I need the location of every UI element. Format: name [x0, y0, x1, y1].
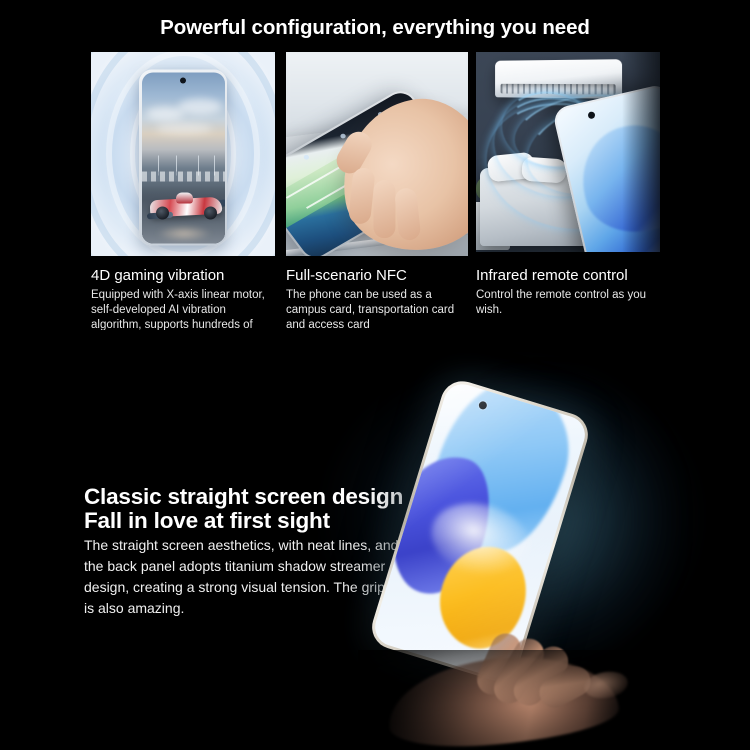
promo-page: Powerful configuration, everything you n… [0, 0, 750, 750]
car-tyre [204, 206, 217, 219]
feature-card-infrared: Infrared remote control Control the remo… [476, 52, 660, 318]
camera-punch-hole-icon [180, 77, 186, 83]
track-barrier [142, 171, 225, 181]
page-title: Powerful configuration, everything you n… [0, 16, 750, 40]
hand-finger [373, 180, 395, 238]
camera-punch-hole-icon [587, 111, 595, 119]
feature-desc-infrared: Control the remote control as you wish. [476, 288, 660, 318]
feature-image-vibration [91, 52, 275, 256]
hero-description: The straight screen aesthetics, with nea… [84, 535, 414, 619]
feature-title-infrared: Infrared remote control [476, 267, 660, 284]
feature-title-vibration: 4D gaming vibration [91, 267, 275, 284]
feature-card-nfc: ⚡ [286, 52, 468, 333]
app-dot-icon [303, 154, 310, 161]
hand-finger [394, 187, 421, 241]
hero-section: Classic straight screen design Fall in l… [0, 330, 750, 750]
hand-finger [348, 167, 376, 225]
feature-title-nfc: Full-scenario NFC [286, 267, 468, 284]
feature-image-infrared [476, 52, 660, 252]
cloud-shape [156, 122, 212, 134]
feature-card-vibration: 4D gaming vibration Equipped with X-axis… [91, 52, 275, 348]
race-car [146, 181, 221, 221]
track-reflection [156, 225, 212, 241]
hero-title: Classic straight screen design Fall in l… [84, 485, 403, 533]
gaming-phone-screen [142, 72, 225, 243]
feature-desc-nfc: The phone can be used as a campus card, … [286, 288, 468, 333]
car-tyre [156, 206, 169, 219]
cloud-shape [178, 98, 222, 114]
hero-hand [388, 620, 688, 750]
feature-row: 4D gaming vibration Equipped with X-axis… [91, 52, 660, 327]
car-cockpit [176, 192, 193, 203]
feature-image-nfc: ⚡ [286, 52, 468, 256]
wall-shadow [622, 52, 660, 252]
gaming-phone [139, 70, 227, 246]
